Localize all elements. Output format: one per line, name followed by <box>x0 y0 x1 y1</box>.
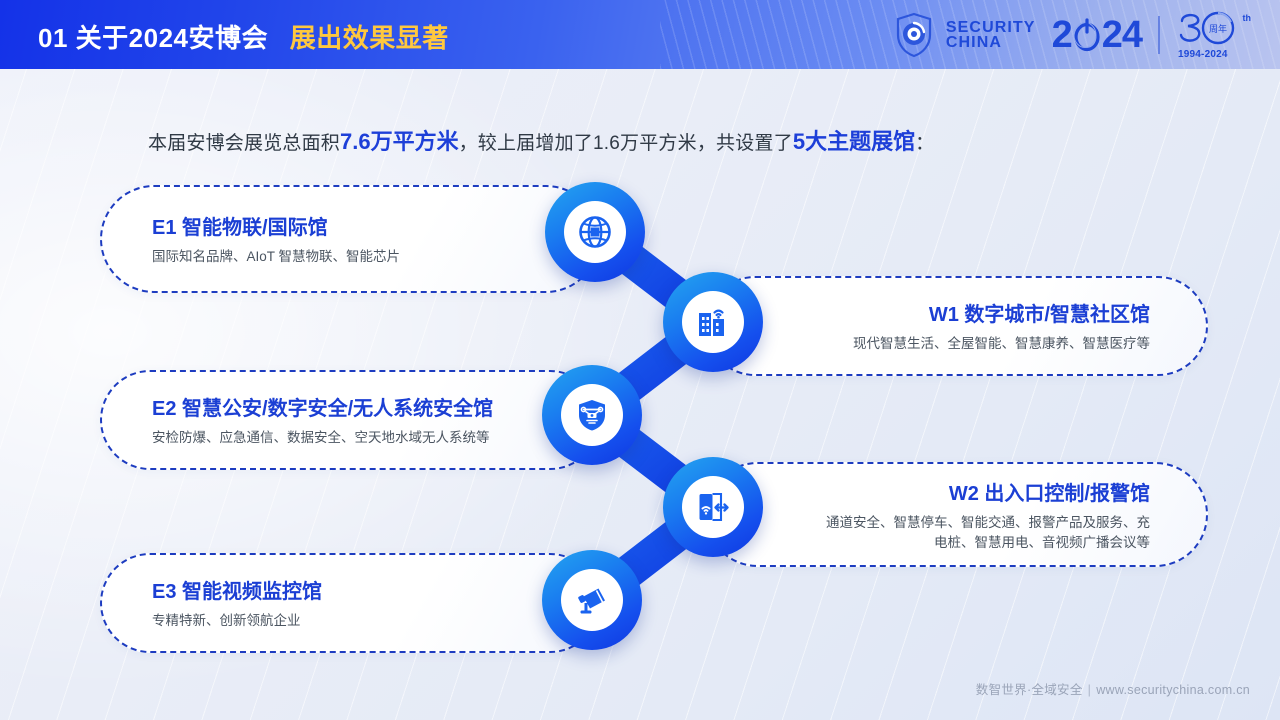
node-inner <box>561 384 623 446</box>
anniversary-badge: 周年 th 1994-2024 <box>1176 11 1252 59</box>
security-shield-icon <box>894 12 934 58</box>
intro-highlight-halls: 5大主题展馆 <box>793 129 915 154</box>
node-ring <box>542 550 642 650</box>
hall-desc-w1: 现代智慧生活、全屋智能、智慧康养、智慧医疗等 <box>853 334 1150 354</box>
smart-building-wifi-icon <box>695 304 731 340</box>
hall-desc-e3: 专精特新、创新领航企业 <box>152 611 301 631</box>
logo-year-prefix: 2 <box>1052 14 1072 57</box>
node-inner <box>561 569 623 631</box>
intro-part1: 本届安博会展览总面积 <box>148 133 340 154</box>
hall-title-e1: E1 智能物联/国际馆 <box>152 211 328 240</box>
page-title-main: 01 关于2024安博会 <box>38 23 268 53</box>
hall-card-e2[interactable]: E2 智慧公安/数字安全/无人系统安全馆 安检防爆、应急通信、数据安全、空天地水… <box>100 370 600 470</box>
hall-title-e3: E3 智能视频监控馆 <box>152 575 322 604</box>
footer: 数智世界·全域安全|www.securitychina.com.cn <box>976 679 1250 698</box>
hall-card-w2[interactable]: W2 出入口控制/报警馆 通道安全、智慧停车、智能交通、报警产品及服务、充电桩、… <box>705 462 1208 567</box>
logo-brand-line1: SECURITY <box>946 20 1036 35</box>
logo-brand-line2: CHINA <box>946 35 1036 50</box>
shield-drone-icon <box>574 397 610 433</box>
intro-highlight-area: 7.6万平方米 <box>340 129 459 154</box>
node-inner <box>682 291 744 353</box>
hall-card-e3[interactable]: E3 智能视频监控馆 专精特新、创新领航企业 <box>100 553 600 653</box>
hall-desc-e2: 安检防爆、应急通信、数据安全、空天地水域无人系统等 <box>152 428 490 448</box>
access-door-icon <box>695 489 731 525</box>
intro-part3: ： <box>915 133 934 154</box>
hall-title-e2: E2 智慧公安/数字安全/无人系统安全馆 <box>152 392 493 421</box>
hall-icon-node-w1[interactable] <box>663 272 763 372</box>
hall-icon-node-e2[interactable] <box>542 365 642 465</box>
node-ring <box>542 365 642 465</box>
hall-desc-w2: 通道安全、智慧停车、智能交通、报警产品及服务、充电桩、智慧用电、音视频广播会议等 <box>820 513 1150 552</box>
hall-card-w1[interactable]: W1 数字城市/智慧社区馆 现代智慧生活、全屋智能、智慧康养、智慧医疗等 <box>705 276 1208 376</box>
cctv-camera-icon <box>574 582 610 618</box>
footer-separator: | <box>1088 683 1092 697</box>
node-inner <box>682 476 744 538</box>
hall-desc-e1: 国际知名品牌、AIoT 智慧物联、智能芯片 <box>152 247 400 267</box>
svg-text:周年: 周年 <box>1209 23 1227 35</box>
power-button-zero-icon <box>1072 18 1102 52</box>
node-ring <box>663 272 763 372</box>
anniversary-range: 1994-2024 <box>1178 49 1228 60</box>
logo-year-suffix: 24 <box>1102 14 1142 57</box>
footer-slogan: 数智世界·全域安全 <box>976 683 1083 697</box>
globe-icon <box>577 214 613 250</box>
logo-year: 2 24 <box>1052 14 1142 57</box>
intro-part2: ，较上届增加了1.6万平方米，共设置了 <box>459 133 793 154</box>
hall-icon-node-w2[interactable] <box>663 457 763 557</box>
footer-url: www.securitychina.com.cn <box>1096 683 1250 697</box>
anniversary-th: th <box>1243 13 1252 23</box>
page-title: 01 关于2024安博会 展出效果显著 <box>38 18 449 55</box>
page-header: 01 关于2024安博会 展出效果显著 SECURITY CHINA 2 <box>0 0 1280 69</box>
intro-paragraph: 本届安博会展览总面积7.6万平方米，较上届增加了1.6万平方米，共设置了5大主题… <box>148 124 934 156</box>
hall-title-w2: W2 出入口控制/报警馆 <box>949 477 1150 506</box>
node-inner <box>564 201 626 263</box>
security-china-logo: SECURITY CHINA 2 24 周年 th 19 <box>894 8 1252 62</box>
hall-icon-node-e3[interactable] <box>542 550 642 650</box>
node-ring <box>545 182 645 282</box>
node-ring <box>663 457 763 557</box>
page-title-highlight: 展出效果显著 <box>290 23 449 53</box>
logo-divider <box>1158 16 1160 54</box>
hall-card-e1[interactable]: E1 智能物联/国际馆 国际知名品牌、AIoT 智慧物联、智能芯片 <box>100 185 600 293</box>
hall-icon-node-e1[interactable] <box>545 182 645 282</box>
hall-title-w1: W1 数字城市/智慧社区馆 <box>929 298 1150 327</box>
logo-wordmark: SECURITY CHINA <box>946 20 1036 51</box>
